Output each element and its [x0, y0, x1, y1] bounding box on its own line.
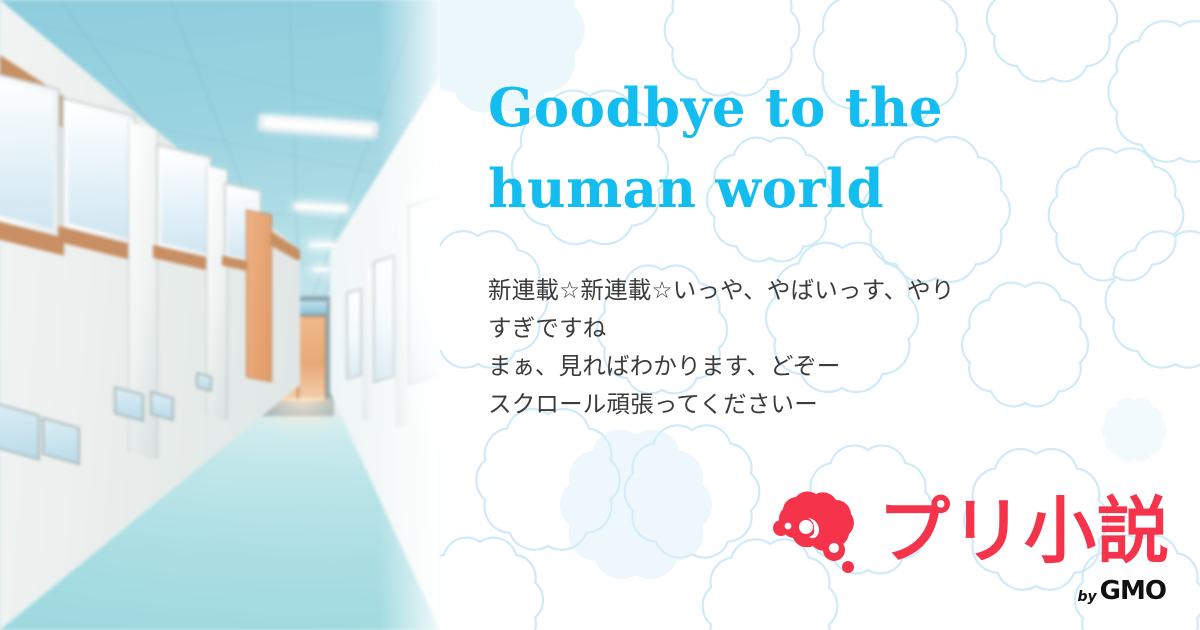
left-window-bay-3: [156, 144, 212, 261]
brand-by-company: GMO: [1100, 578, 1166, 604]
story-cover-card: Goodbye to the human world 新連載☆新連載☆いっや、や…: [0, 0, 1200, 630]
brand-by-prefix: by: [1078, 590, 1097, 604]
story-title: Goodbye to the human world: [488, 68, 1128, 229]
thought-bubble-flower-icon: [772, 488, 864, 574]
brand-name: プリ小説: [878, 497, 1170, 565]
brand-logo-row: プリ小説: [772, 488, 1170, 574]
cover-illustration: [0, 0, 440, 630]
info-panel: Goodbye to the human world 新連載☆新連載☆いっや、や…: [440, 0, 1200, 630]
left-window-bay-1: [0, 67, 60, 238]
left-corridor-door: [246, 209, 272, 382]
ceiling-lamp-farthest: [313, 268, 329, 271]
brand-logo[interactable]: プリ小説 by GMO: [772, 488, 1170, 604]
brand-byline: by GMO: [1078, 578, 1166, 604]
left-window-bay-2: [62, 97, 136, 247]
story-description: 新連載☆新連載☆いっや、やばいっす、やり すぎですね まぁ、見ればわかります、ど…: [488, 271, 1148, 423]
window-glare: [330, 120, 440, 540]
